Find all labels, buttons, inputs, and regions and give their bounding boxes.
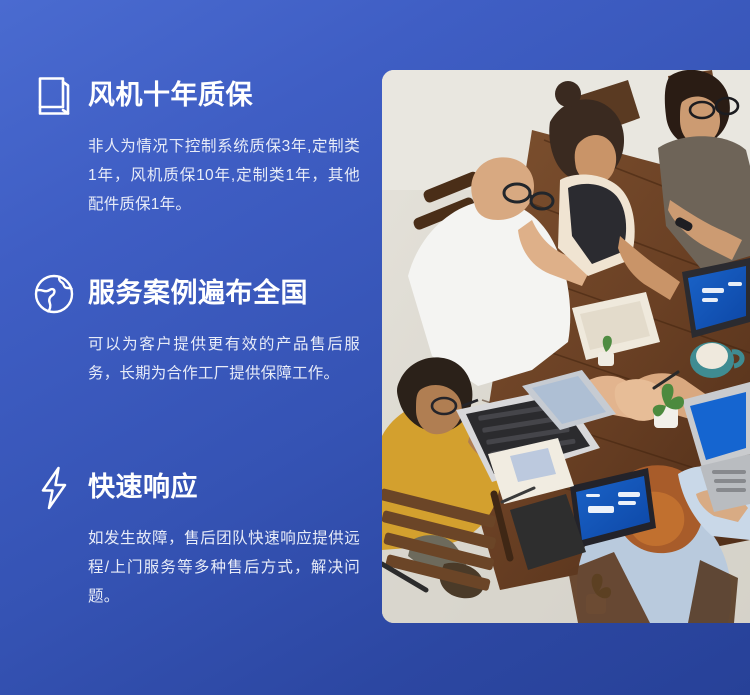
feature-item-warranty: 风机十年质保 非人为情况下控制系统质保3年,定制类1年，风机质保10年,定制类1…: [0, 74, 382, 219]
lightning-bolt-icon: [32, 466, 76, 510]
feature-header: 风机十年质保: [0, 74, 382, 120]
feature-header: 服务案例遍布全国: [0, 272, 382, 318]
feature-title: 风机十年质保: [88, 74, 253, 118]
feature-description: 非人为情况下控制系统质保3年,定制类1年，风机质保10年,定制类1年，其他配件质…: [88, 132, 360, 219]
meeting-photo: [382, 70, 750, 623]
feature-item-coverage: 服务案例遍布全国 可以为客户提供更有效的产品售后服务，长期为合作工厂提供保障工作…: [0, 272, 382, 388]
feature-header: 快速响应: [0, 466, 382, 512]
meeting-photo-image: [382, 70, 750, 623]
feature-description: 如发生故障，售后团队快速响应提供远程/上门服务等多种售后方式，解决问题。: [88, 524, 360, 611]
feature-list: 风机十年质保 非人为情况下控制系统质保3年,定制类1年，风机质保10年,定制类1…: [0, 0, 382, 695]
book-icon: [32, 74, 76, 118]
feature-title: 服务案例遍布全国: [88, 272, 308, 316]
feature-item-response: 快速响应 如发生故障，售后团队快速响应提供远程/上门服务等多种售后方式，解决问题…: [0, 466, 382, 611]
feature-description: 可以为客户提供更有效的产品售后服务，长期为合作工厂提供保障工作。: [88, 330, 360, 388]
promo-panel: 风机十年质保 非人为情况下控制系统质保3年,定制类1年，风机质保10年,定制类1…: [0, 0, 750, 695]
feature-title: 快速响应: [88, 466, 198, 510]
globe-icon: [32, 272, 76, 316]
